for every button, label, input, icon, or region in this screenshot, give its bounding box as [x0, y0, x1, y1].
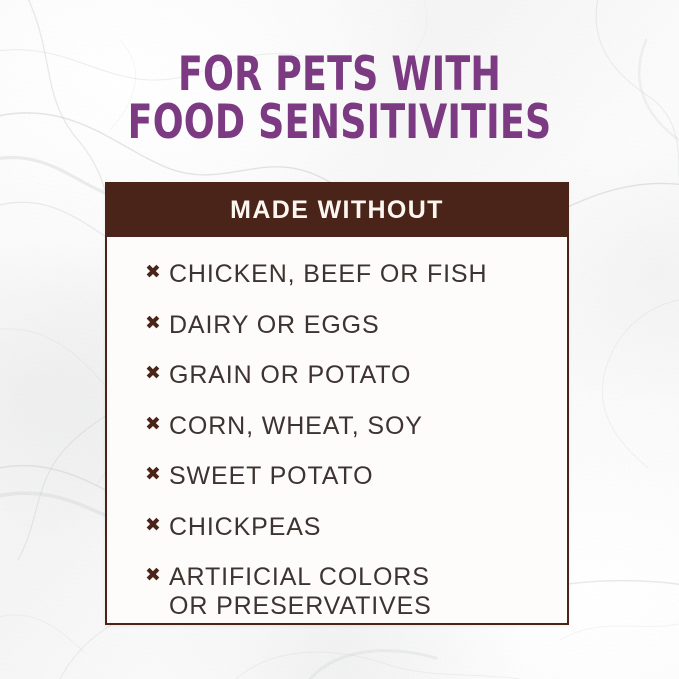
x-mark-icon: ✖ — [145, 412, 169, 437]
made-without-card: MADE WITHOUT ✖ CHICKEN, BEEF OR FISH ✖ D… — [105, 182, 569, 625]
list-item: ✖ SWEET POTATO — [145, 462, 549, 491]
x-mark-icon: ✖ — [145, 361, 169, 386]
poster-canvas: FOR PETS WITH FOOD SENSITIVITIES MADE WI… — [0, 0, 679, 679]
headline: FOR PETS WITH FOOD SENSITIVITIES — [0, 52, 679, 146]
list-item: ✖ CHICKPEAS — [145, 513, 549, 542]
x-mark-icon: ✖ — [145, 513, 169, 538]
list-item: ✖ GRAIN OR POTATO — [145, 361, 549, 390]
card-header-bar: MADE WITHOUT — [107, 184, 567, 237]
headline-line-1: FOR PETS WITH — [48, 52, 632, 98]
list-item: ✖ CORN, WHEAT, SOY — [145, 412, 549, 441]
list-item-label: CHICKEN, BEEF OR FISH — [169, 260, 549, 289]
list-item-label: CHICKPEAS — [169, 513, 549, 542]
list-item-label: DAIRY OR EGGS — [169, 311, 549, 340]
x-mark-icon: ✖ — [145, 260, 169, 285]
x-mark-icon: ✖ — [145, 311, 169, 336]
headline-line-2: FOOD SENSITIVITIES — [48, 100, 632, 146]
x-mark-icon: ✖ — [145, 462, 169, 487]
list-item-label: GRAIN OR POTATO — [169, 361, 549, 390]
excluded-ingredients-list: ✖ CHICKEN, BEEF OR FISH ✖ DAIRY OR EGGS … — [107, 260, 567, 620]
list-item: ✖ ARTIFICIAL COLORS OR PRESERVATIVES — [145, 563, 549, 620]
list-item-label: SWEET POTATO — [169, 462, 549, 491]
list-item-label: ARTIFICIAL COLORS OR PRESERVATIVES — [169, 563, 549, 620]
card-body: ✖ CHICKEN, BEEF OR FISH ✖ DAIRY OR EGGS … — [107, 237, 567, 623]
list-item: ✖ DAIRY OR EGGS — [145, 311, 549, 340]
list-item: ✖ CHICKEN, BEEF OR FISH — [145, 260, 549, 289]
list-item-label: CORN, WHEAT, SOY — [169, 412, 549, 441]
x-mark-icon: ✖ — [145, 563, 169, 588]
card-header-title: MADE WITHOUT — [230, 198, 444, 223]
